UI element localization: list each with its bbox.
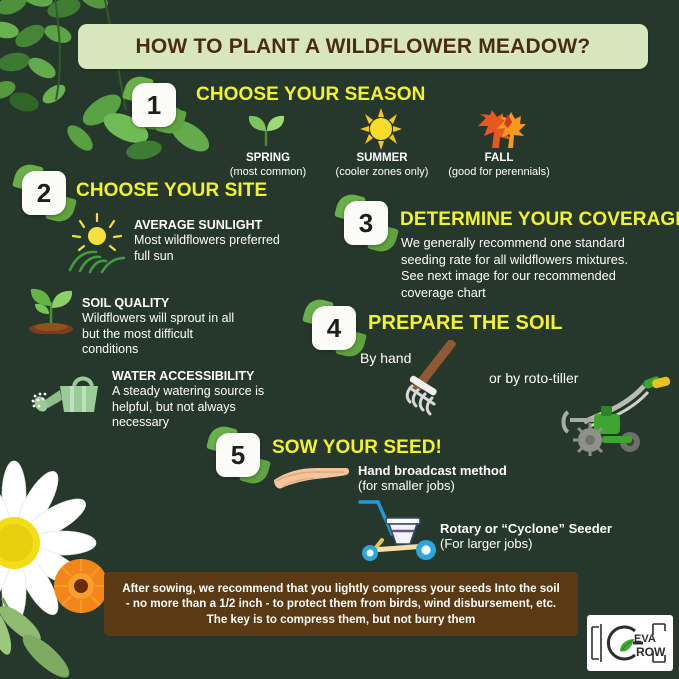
badge-plate: 1 (132, 83, 176, 127)
note-line-2: - no more than a 1/2 inch - to protect t… (122, 596, 559, 612)
season-fall: FALL (good for perennials) (440, 152, 558, 179)
roto-tiller-icon (548, 370, 672, 461)
daisy-flower-decoration (0, 448, 154, 679)
badge-plate: 2 (22, 171, 66, 215)
season-note: (most common) (230, 166, 306, 178)
season-spring: SPRING (most common) (222, 152, 314, 179)
step-badge-5: 5 (212, 430, 264, 480)
note-line-3: The key is to compress them, but not bur… (122, 612, 559, 628)
item-body-water-accessibility: A steady watering source is helpful, but… (112, 384, 322, 431)
season-label: SUMMER (328, 152, 436, 166)
item-body-average-sunlight: Most wildflowers preferred full sun (134, 233, 334, 264)
brand-logo: EVA ROW (587, 615, 673, 671)
step-badge-3: 3 (340, 198, 392, 248)
step-number: 5 (231, 442, 245, 468)
step-badge-4: 4 (308, 303, 360, 353)
item-title-water-accessibility: WATER ACCESSIBILITY (112, 369, 254, 383)
season-note: (cooler zones only) (336, 166, 429, 178)
step-body-3: We generally recommend one standard seed… (401, 235, 679, 302)
step-heading-1: CHOOSE YOUR SEASON (196, 84, 426, 106)
step-heading-3: DETERMINE YOUR COVERAGE (400, 209, 679, 231)
season-note: (good for perennials) (448, 166, 550, 178)
step-number: 2 (37, 180, 51, 206)
rake-icon (400, 340, 482, 423)
season-label: SPRING (222, 152, 314, 166)
step-heading-2: CHOOSE YOUR SITE (76, 180, 267, 202)
sun-over-field-icon (66, 212, 128, 279)
step-badge-2: 2 (18, 168, 70, 218)
badge-plate: 4 (312, 306, 356, 350)
page-title-bar: HOW TO PLANT A WILDFLOWER MEADOW? (78, 24, 648, 69)
badge-plate: 3 (344, 201, 388, 245)
method-note-rotary-seeder: (For larger jobs) (440, 536, 532, 552)
season-label: FALL (440, 152, 558, 166)
badge-plate: 5 (216, 433, 260, 477)
method-title-hand-broadcast: Hand broadcast method (358, 463, 507, 478)
watering-can-icon (30, 372, 102, 423)
logo-text-top: EVA (634, 633, 656, 645)
open-hand-icon (272, 462, 352, 499)
step-heading-4: PREPARE THE SOIL (368, 312, 563, 335)
step-number: 1 (147, 92, 161, 118)
maple-leaf-icon (474, 110, 526, 155)
item-title-average-sunlight: AVERAGE SUNLIGHT (134, 218, 262, 232)
page-title: HOW TO PLANT A WILDFLOWER MEADOW? (136, 35, 591, 59)
step-heading-5: SOW YOUR SEED! (272, 437, 442, 459)
season-summer: SUMMER (cooler zones only) (328, 152, 436, 179)
infographic-canvas: HOW TO PLANT A WILDFLOWER MEADOW? 1 CHOO… (0, 0, 679, 679)
bottom-note-text: After sowing, we recommend that you ligh… (112, 581, 569, 628)
seedling-icon (246, 112, 288, 153)
item-title-soil-quality: SOIL QUALITY (82, 296, 169, 310)
item-body-soil-quality: Wildflowers will sprout in all but the m… (82, 311, 282, 358)
method-note-hand-broadcast: (for smaller jobs) (358, 478, 455, 494)
logo-text-bottom: ROW (636, 645, 666, 659)
bottom-note-box: After sowing, we recommend that you ligh… (104, 572, 578, 636)
sun-icon (358, 108, 404, 155)
seed-spreader-icon (352, 500, 444, 567)
step-number: 3 (359, 210, 373, 236)
method-title-rotary-seeder: Rotary or “Cyclone” Seeder (440, 521, 612, 536)
step-badge-1: 1 (128, 80, 180, 130)
note-line-1: After sowing, we recommend that you ligh… (122, 581, 559, 597)
sprout-in-soil-icon (22, 284, 80, 339)
step-number: 4 (327, 315, 341, 341)
